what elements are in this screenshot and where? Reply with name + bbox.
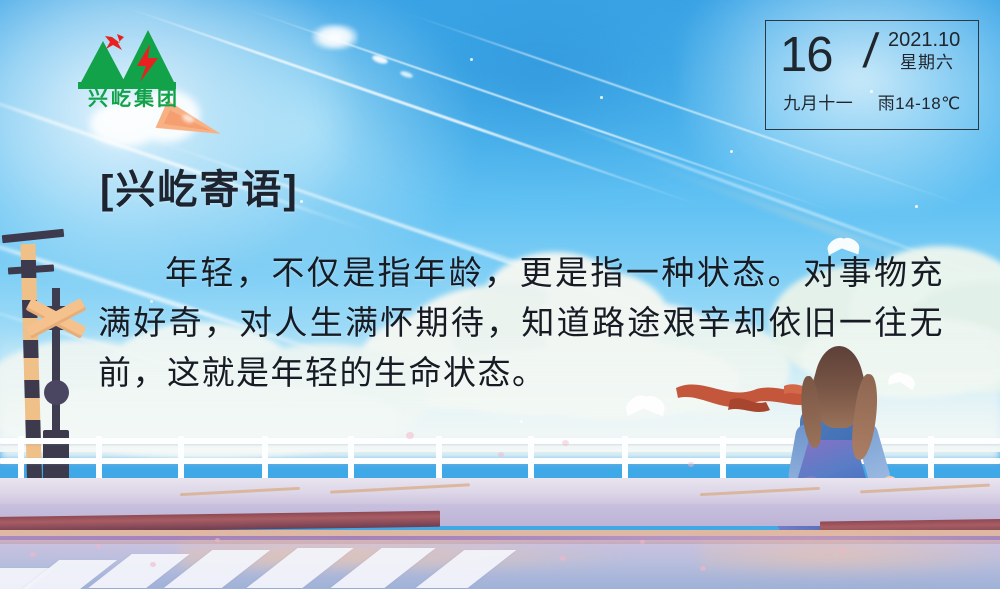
date-card-top-row: 16 / 2021.10 星期六: [766, 25, 978, 87]
sparkle: [730, 150, 733, 153]
bird-icon: [625, 395, 668, 421]
petal: [640, 540, 645, 544]
petal: [498, 452, 504, 457]
road-warm-glow: [700, 532, 1000, 578]
poster-canvas: 兴屹集团 16 / 2021.10 星期六 九月十一 雨14-18℃ [兴屹寄语…: [0, 0, 1000, 589]
petal: [150, 562, 156, 567]
sparkle: [470, 58, 473, 61]
petal: [840, 548, 845, 552]
petal: [700, 566, 706, 571]
date-weekday: 星期六: [900, 53, 954, 73]
railing-post: [262, 436, 268, 484]
petal: [30, 552, 36, 557]
company-logo[interactable]: 兴屹集团: [76, 24, 192, 112]
body-text: 年轻，不仅是指年龄，更是指一种状态。对事物充满好奇，对人生满怀期待，知道路途艰辛…: [98, 253, 944, 392]
railing-post: [18, 436, 24, 484]
petal: [215, 538, 220, 542]
railing-post: [436, 436, 442, 484]
meteor-glow: [312, 24, 358, 50]
railing-post: [528, 436, 534, 484]
sparkle: [600, 96, 603, 99]
date-year-month: 2021.10: [888, 29, 960, 52]
date-day: 16: [780, 27, 833, 83]
petal: [560, 556, 566, 561]
railing-post: [928, 436, 934, 484]
sparkle: [520, 420, 523, 423]
date-separator: /: [861, 21, 881, 83]
weather-info: 雨14-18℃: [878, 94, 961, 113]
sparkle: [915, 205, 918, 208]
railing-post: [348, 436, 354, 484]
date-card: 16 / 2021.10 星期六 九月十一 雨14-18℃: [765, 20, 979, 130]
sparkle: [300, 200, 303, 203]
railing-post: [720, 436, 726, 484]
date-card-bottom-row: 九月十一 雨14-18℃: [766, 93, 978, 115]
railing-post: [622, 436, 628, 484]
petal: [562, 440, 569, 446]
petal: [688, 462, 694, 467]
sidewalk: [0, 478, 1000, 504]
petal: [96, 544, 101, 548]
petal: [406, 432, 414, 439]
ground-road: [0, 478, 1000, 589]
railing-post: [96, 436, 102, 484]
body-paragraph: 年轻，不仅是指年龄，更是指一种状态。对事物充满好奇，对人生满怀期待，知道路途艰辛…: [98, 248, 944, 398]
railing-post: [178, 436, 184, 484]
signal-light: [44, 380, 69, 405]
page-title: [兴屹寄语]: [100, 164, 299, 216]
logo-wordmark: 兴屹集团: [78, 86, 190, 110]
lunar-date: 九月十一: [783, 94, 853, 113]
